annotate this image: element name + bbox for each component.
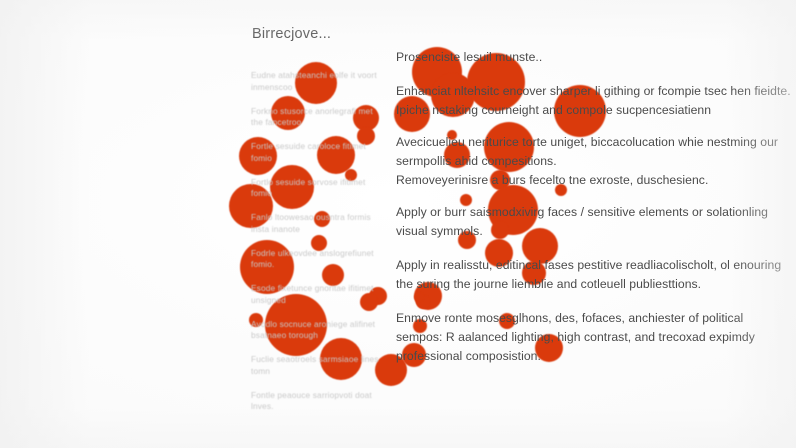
page-title: Birrecjove... [252, 24, 331, 44]
main-text-line: Prosenciste lesuil munste.. [396, 48, 796, 67]
left-faint-text-column: Eudne atahsteanchi eolfe it voortinmensc… [251, 70, 411, 425]
main-text-line: Removeyerinisre a burs fecelto tne exros… [396, 171, 796, 190]
left-text-paragraph: Forkno stusorce anorlegrafi metthe fance… [251, 106, 411, 129]
left-text-line: fomio [251, 153, 411, 165]
left-text-paragraph: Fortle sesuide caroloce fitimetfomio [251, 141, 411, 164]
left-text-line: Esode fixetunce gnoritae ifitimet [251, 283, 411, 295]
left-text-line: Fontle peaouce sarriopvoti doat [251, 390, 411, 402]
main-text-line: Enmove ronte mosesglhons, des, fofaces, … [396, 309, 796, 328]
main-text-paragraph: Prosenciste lesuil munste.. [396, 48, 796, 67]
main-text-paragraph: Enhanciat nltehsitc encover sharper li g… [396, 82, 796, 120]
left-text-line: insta inanote [251, 224, 411, 236]
main-text-paragraph: Avecicuelieu neriturice torte uniget, bi… [396, 133, 796, 190]
main-text-line: Apply or burr saismodxivirg faces / sens… [396, 203, 796, 222]
left-text-line: Fuclie seaotroels sarmsiaoe lines [251, 354, 411, 366]
main-text-paragraph: Apply or burr saismodxivirg faces / sens… [396, 203, 796, 241]
left-text-line: Eudne atahsteanchi eolfe it voort [251, 70, 411, 82]
left-text-paragraph: Fanlo ltoowesao ousntra formisinsta inan… [251, 212, 411, 235]
left-text-line: Avodlo socnuce aroniege alifinet [251, 319, 411, 331]
left-text-paragraph: Fontle peaouce sarriopvoti doatlnves. [251, 390, 411, 413]
left-text-paragraph: Esode fixetunce gnoritae ifitimetunsigne… [251, 283, 411, 306]
left-text-line: lnves. [251, 401, 411, 413]
main-text-line: Ipiche nstaking courneight and compole s… [396, 101, 796, 120]
main-text-line: sempos: R aalanced lighting, high contra… [396, 328, 796, 347]
main-text-paragraph: Enmove ronte mosesglhons, des, fofaces, … [396, 309, 796, 366]
left-text-paragraph: Fodrle ulkeovdee anslogrefiunetfomio. [251, 248, 411, 271]
left-text-line: Fanlo ltoowesao ousntra formis [251, 212, 411, 224]
main-text-line: Apply in realisstu, editincal fases pest… [396, 256, 796, 275]
left-text-paragraph: Eudne atahsteanchi eolfe it voortinmensc… [251, 70, 411, 93]
document-canvas: Birrecjove... Eudne atahsteanchi eolfe i… [0, 0, 796, 448]
left-text-line: Fortlo sesuide sorvose ifitimet [251, 177, 411, 189]
main-text-column: Prosenciste lesuil munste..Enhanciat nlt… [396, 48, 796, 381]
left-text-line: fomio [251, 188, 411, 200]
left-text-line: Fodrle ulkeovdee anslogrefiunet [251, 248, 411, 260]
left-text-paragraph: Avodlo socnuce aroniege alifinetbsatnaeo… [251, 319, 411, 342]
main-text-line: visual symmols. [396, 222, 796, 241]
main-text-line: Avecicuelieu neriturice torte uniget, bi… [396, 133, 796, 152]
main-text-line: professional composistion. [396, 347, 796, 366]
main-text-line: the suring the journe liemblie and cotle… [396, 275, 796, 294]
left-text-line: unsigned [251, 295, 411, 307]
left-text-line: bsatnaeo torough [251, 330, 411, 342]
left-text-paragraph: Fortlo sesuide sorvose ifitimetfomio [251, 177, 411, 200]
left-text-line: inmenscoo [251, 82, 411, 94]
left-text-paragraph: Fuclie seaotroels sarmsiaoe linestomn [251, 354, 411, 377]
left-text-line: tomn [251, 366, 411, 378]
main-text-line: sermpollis ahid compesitions. [396, 152, 796, 171]
left-text-line: fomio. [251, 259, 411, 271]
left-text-line: the fancetroo [251, 117, 411, 129]
left-text-line: Forkno stusorce anorlegrafi met [251, 106, 411, 118]
main-text-paragraph: Apply in realisstu, editincal fases pest… [396, 256, 796, 294]
main-text-line: Enhanciat nltehsitc encover sharper li g… [396, 82, 796, 101]
left-text-line: Fortle sesuide caroloce fitimet [251, 141, 411, 153]
